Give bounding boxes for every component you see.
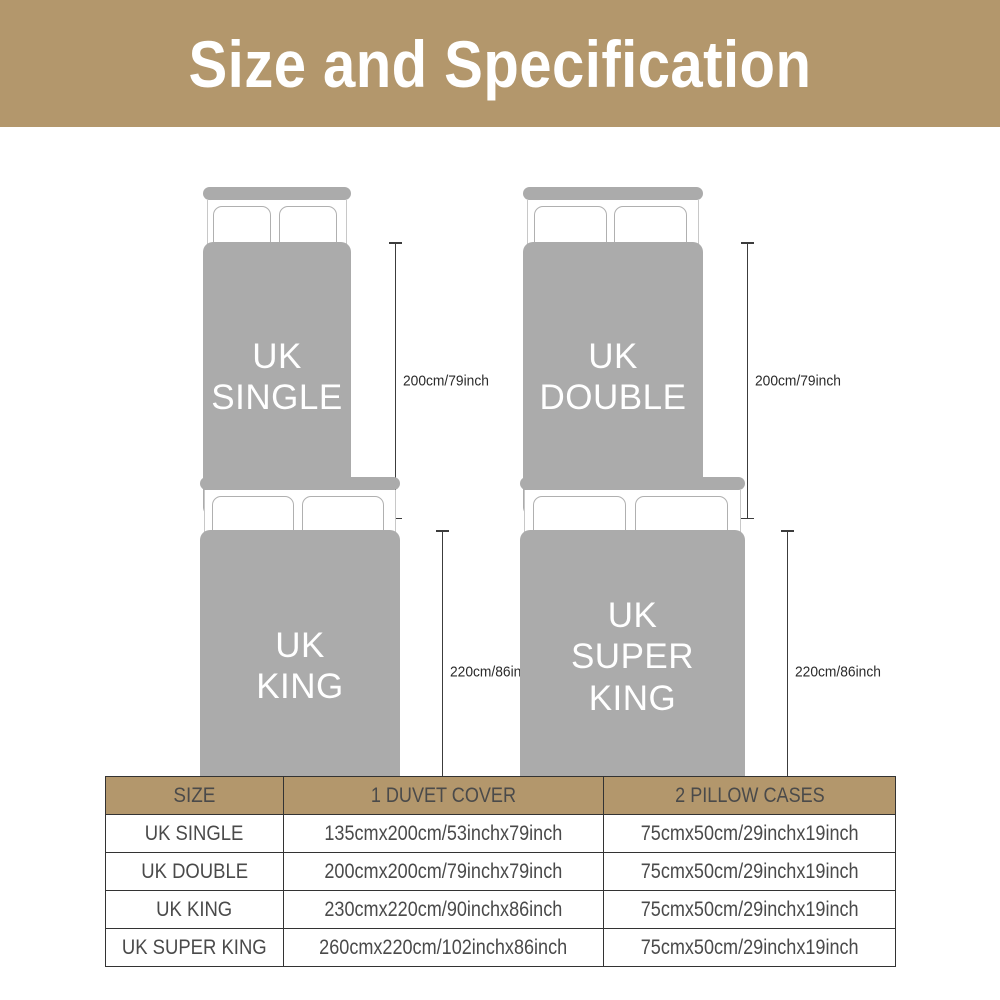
cell-duvet-cover: 135cmx200cm/53inchx79inch bbox=[284, 815, 604, 853]
cell-size: UK KING bbox=[106, 891, 284, 929]
table-header-row: SIZE 1 DUVET COVER 2 PILLOW CASES bbox=[106, 777, 896, 815]
table-body: UK SINGLE 135cmx200cm/53inchx79inch 75cm… bbox=[106, 815, 896, 967]
column-header-duvet-cover: 1 DUVET COVER bbox=[284, 777, 604, 815]
specification-table-wrapper: SIZE 1 DUVET COVER 2 PILLOW CASES UK SIN… bbox=[105, 776, 895, 967]
dimension-stem bbox=[442, 532, 444, 813]
page-title: Size and Specification bbox=[189, 31, 812, 97]
cell-duvet-cover: 230cmx220cm/90inchx86inch bbox=[284, 891, 604, 929]
bed-label-uk-double: UK DOUBLE bbox=[523, 336, 703, 419]
table-row: UK DOUBLE 200cmx200cm/79inchx79inch 75cm… bbox=[106, 853, 896, 891]
bed-label-uk-super-king: UK SUPER KING bbox=[520, 595, 745, 719]
cell-pillow-cases: 75cmx50cm/29inchx19inch bbox=[604, 853, 896, 891]
duvet-shape: UK SINGLE bbox=[203, 242, 351, 517]
dimension-stem bbox=[747, 244, 749, 518]
table-row: UK KING 230cmx220cm/90inchx86inch 75cmx5… bbox=[106, 891, 896, 929]
dimension-vertical-uk-king: 220cm/86inch bbox=[436, 530, 449, 814]
bed-drawing-uk-super-king: UK SUPER KING bbox=[520, 477, 745, 812]
bed-drawing-uk-king: UK KING bbox=[200, 477, 400, 812]
headboard-icon bbox=[520, 477, 745, 490]
dimension-stem bbox=[787, 532, 789, 813]
table-row: UK SINGLE 135cmx200cm/53inchx79inch 75cm… bbox=[106, 815, 896, 853]
dimension-vertical-uk-super-king: 220cm/86inch bbox=[781, 530, 794, 814]
dimension-label-height: 200cm/79inch bbox=[403, 372, 496, 389]
column-header-size: SIZE bbox=[106, 777, 284, 815]
bed-label-uk-king: UK KING bbox=[200, 625, 400, 708]
dimension-label-height: 220cm/86inch bbox=[795, 664, 888, 681]
cell-size: UK SINGLE bbox=[106, 815, 284, 853]
duvet-shape: UK KING bbox=[200, 530, 400, 812]
specification-table: SIZE 1 DUVET COVER 2 PILLOW CASES UK SIN… bbox=[105, 776, 896, 967]
page-header-banner: Size and Specification bbox=[0, 0, 1000, 127]
duvet-shape: UK DOUBLE bbox=[523, 242, 703, 517]
headboard-icon bbox=[203, 187, 351, 200]
cell-size: UK DOUBLE bbox=[106, 853, 284, 891]
headboard-icon bbox=[200, 477, 400, 490]
cell-size: UK SUPER KING bbox=[106, 929, 284, 967]
table-header: SIZE 1 DUVET COVER 2 PILLOW CASES bbox=[106, 777, 896, 815]
cell-pillow-cases: 75cmx50cm/29inchx19inch bbox=[604, 929, 896, 967]
size-specification-page: Size and Specification UK SINGLE 200cm/7… bbox=[0, 0, 1000, 1000]
cell-pillow-cases: 75cmx50cm/29inchx19inch bbox=[604, 891, 896, 929]
cell-duvet-cover: 260cmx220cm/102inchx86inch bbox=[284, 929, 604, 967]
bed-label-uk-single: UK SINGLE bbox=[203, 336, 351, 419]
duvet-shape: UK SUPER KING bbox=[520, 530, 745, 812]
dimension-label-height: 200cm/79inch bbox=[755, 372, 848, 389]
bed-drawing-uk-double: UK DOUBLE bbox=[523, 187, 703, 517]
bed-drawing-uk-single: UK SINGLE bbox=[203, 187, 351, 517]
column-header-pillow-cases: 2 PILLOW CASES bbox=[604, 777, 896, 815]
cell-duvet-cover: 200cmx200cm/79inchx79inch bbox=[284, 853, 604, 891]
cell-pillow-cases: 75cmx50cm/29inchx19inch bbox=[604, 815, 896, 853]
bed-diagrams-section: UK SINGLE 200cm/79inch 135cm/53inch bbox=[0, 127, 1000, 760]
headboard-icon bbox=[523, 187, 703, 200]
table-row: UK SUPER KING 260cmx220cm/102inchx86inch… bbox=[106, 929, 896, 967]
